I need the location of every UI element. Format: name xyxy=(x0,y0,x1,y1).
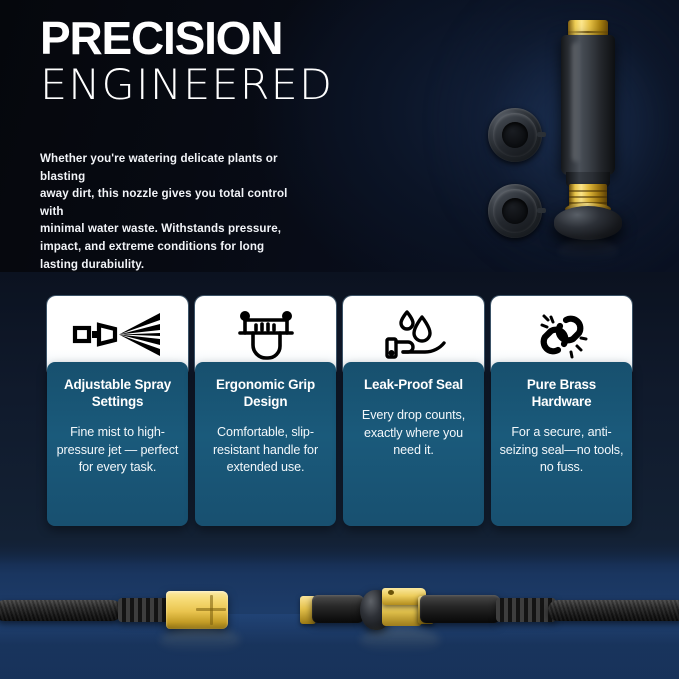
braided-hose-right xyxy=(548,600,679,621)
feature-card-description: For a secure, anti-seizing seal—no tools… xyxy=(499,424,624,476)
washer-center-hole xyxy=(502,198,528,224)
product-detail-strip xyxy=(0,538,679,679)
feature-card-pure-brass[interactable]: Pure Brass Hardware For a secure, anti-s… xyxy=(491,296,632,526)
hero-description-line-5: lasting durabiulity. xyxy=(40,256,312,274)
feature-card-title: Pure Brass Hardware xyxy=(499,376,624,410)
valve-pivot-dot xyxy=(388,590,394,595)
feature-card-body: Adjustable Spray Settings Fine mist to h… xyxy=(47,362,188,526)
hero-description-line-1: Whether you're watering delicate plants … xyxy=(40,150,312,185)
product-infographic: PRECISION ENGINEERED Whether you're wate… xyxy=(0,0,679,679)
washer-tab xyxy=(537,132,546,137)
feature-card-body: Leak-Proof Seal Every drop counts, exact… xyxy=(343,362,484,526)
black-grip-sleeve-left xyxy=(312,595,364,623)
rubber-washer-ring xyxy=(488,108,542,162)
hero-description-line-3: minimal water waste. Withstands pressure… xyxy=(40,220,312,238)
page-title: PRECISION ENGINEERED xyxy=(40,14,327,108)
nozzle-reflection xyxy=(558,239,618,265)
chain-link-sparkle-icon xyxy=(533,308,591,362)
feature-card-description: Comfortable, slip-resistant handle for e… xyxy=(203,424,328,476)
nozzle-black-body xyxy=(561,35,615,175)
hero-description-line-4: impact, and extreme conditions for long xyxy=(40,238,312,256)
nozzle-collar-rib xyxy=(569,190,607,192)
feature-card-list: Adjustable Spray Settings Fine mist to h… xyxy=(47,296,632,526)
nozzle-cap-groove xyxy=(568,31,608,33)
rubber-washer-ring xyxy=(488,184,542,238)
nozzle-collar-rib xyxy=(569,196,607,198)
hose-strain-relief-left xyxy=(118,598,170,622)
feature-card-description: Fine mist to high-pressure jet — perfect… xyxy=(55,424,180,476)
feature-card-body: Ergonomic Grip Design Comfortable, slip-… xyxy=(195,362,336,526)
nozzle-brass-cap xyxy=(568,20,608,36)
feature-card-description: Every drop counts, exactly where you nee… xyxy=(351,407,476,459)
feature-card-title: Leak-Proof Seal xyxy=(351,376,476,393)
headline-primary: PRECISION xyxy=(40,14,327,63)
strip-reflection-right xyxy=(360,628,440,652)
coupling-slot-vertical xyxy=(210,595,213,625)
strip-floor-glow xyxy=(0,614,679,679)
hero-description: Whether you're watering delicate plants … xyxy=(40,150,312,273)
feature-card-body: Pure Brass Hardware For a secure, anti-s… xyxy=(491,362,632,526)
hero-section: PRECISION ENGINEERED Whether you're wate… xyxy=(0,0,679,282)
hand-grip-icon xyxy=(235,309,297,361)
feature-card-title: Adjustable Spray Settings xyxy=(55,376,180,410)
headline-secondary: ENGINEERED xyxy=(40,61,333,108)
braided-hose-left xyxy=(0,600,122,621)
washer-tab xyxy=(537,208,546,213)
washer-center-hole xyxy=(502,122,528,148)
strip-top-gradient xyxy=(0,538,679,564)
feature-card-ergonomic-grip[interactable]: Ergonomic Grip Design Comfortable, slip-… xyxy=(195,296,336,526)
nozzle-body-highlight xyxy=(572,42,581,162)
nozzle-base xyxy=(554,206,622,240)
feature-card-leak-proof-seal[interactable]: Leak-Proof Seal Every drop counts, exact… xyxy=(343,296,484,526)
feature-card-adjustable-spray[interactable]: Adjustable Spray Settings Fine mist to h… xyxy=(47,296,188,526)
spray-nozzle-icon xyxy=(72,311,164,359)
hero-description-line-2: away dirt, this nozzle gives you total c… xyxy=(40,185,312,220)
strip-reflection-left xyxy=(160,628,240,652)
black-grip-sleeve-right xyxy=(420,595,500,623)
hose-nozzle-graphic xyxy=(552,20,624,248)
hero-product-image xyxy=(468,14,668,272)
hose-strain-relief-right xyxy=(496,598,556,622)
water-drop-hand-icon xyxy=(381,308,447,362)
feature-card-title: Ergonomic Grip Design xyxy=(203,376,328,410)
